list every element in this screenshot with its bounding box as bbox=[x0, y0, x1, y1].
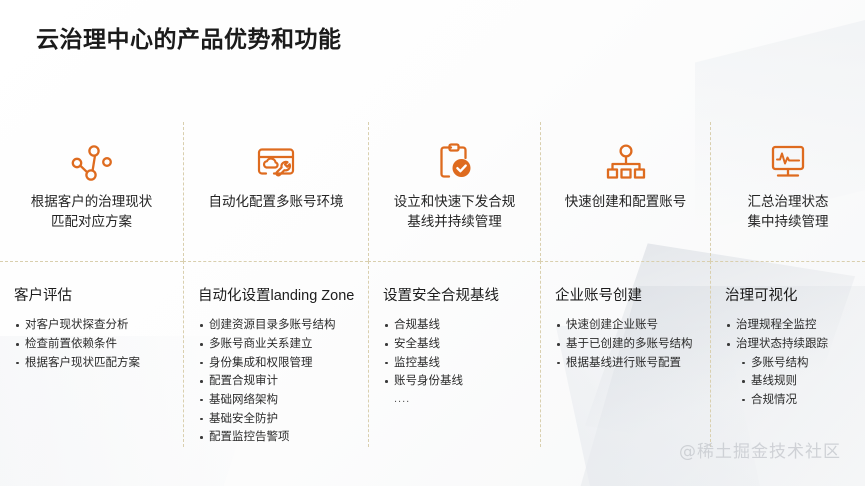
list-item: 安全基线 bbox=[383, 335, 534, 354]
watermark: @稀土掘金技术社区 bbox=[679, 437, 841, 462]
list-item-sub: 基线规则 bbox=[725, 372, 859, 391]
feature-column-5-heading: 治理可视化 bbox=[725, 288, 859, 305]
monitor-pulse-icon bbox=[767, 136, 809, 188]
feature-column-3-caption: 设立和快速下发合规 基线并持续管理 bbox=[384, 192, 526, 231]
list-item: 基础安全防护 bbox=[198, 410, 362, 429]
list-item-ellipsis: .... bbox=[383, 391, 534, 409]
list-item: 根据客户现状匹配方案 bbox=[14, 354, 177, 373]
feature-column-5-body: 治理可视化 治理规程全监控 治理状态持续跟踪 多账号结构 基线规则 合规情况 bbox=[710, 261, 865, 447]
feature-grid: 根据客户的治理现状 匹配对应方案 自动化配置多账号环境 bbox=[0, 122, 865, 422]
list-item: 账号身份基线 bbox=[383, 372, 534, 391]
feature-column-4-caption: 快速创建和配置账号 bbox=[555, 192, 697, 212]
feature-column-5-caption: 汇总治理状态 集中持续管理 bbox=[738, 192, 839, 231]
feature-column-5-bullets: 治理规程全监控 治理状态持续跟踪 多账号结构 基线规则 合规情况 bbox=[725, 316, 859, 409]
feature-column-2-body: 自动化设置landing Zone 创建资源目录多账号结构 多账号商业关系建立 … bbox=[183, 261, 368, 447]
list-item: 根据基线进行账号配置 bbox=[555, 354, 704, 373]
list-item: 快速创建企业账号 bbox=[555, 316, 704, 335]
feature-column-4-bullets: 快速创建企业账号 基于已创建的多账号结构 根据基线进行账号配置 bbox=[555, 316, 704, 372]
feature-column-3-heading: 设置安全合规基线 bbox=[383, 288, 534, 305]
feature-column-1-body: 客户评估 对客户现状探查分析 检查前置依赖条件 根据客户现状匹配方案 bbox=[0, 261, 183, 447]
list-item-sub: 多账号结构 bbox=[725, 354, 859, 373]
list-item: 检查前置依赖条件 bbox=[14, 335, 177, 354]
list-item-sub: 合规情况 bbox=[725, 391, 859, 410]
list-item: 监控基线 bbox=[383, 354, 534, 373]
list-item: 对客户现状探查分析 bbox=[14, 316, 177, 335]
list-item: 配置合规审计 bbox=[198, 372, 362, 391]
feature-column-2-bullets: 创建资源目录多账号结构 多账号商业关系建立 身份集成和权限管理 配置合规审计 基… bbox=[198, 316, 362, 446]
list-item: 治理状态持续跟踪 bbox=[725, 335, 859, 354]
feature-column-2-caption: 自动化配置多账号环境 bbox=[199, 192, 354, 212]
list-item: 创建资源目录多账号结构 bbox=[198, 316, 362, 335]
list-item: 身份集成和权限管理 bbox=[198, 354, 362, 373]
feature-column-4-heading: 企业账号创建 bbox=[555, 288, 704, 305]
list-item: 合规基线 bbox=[383, 316, 534, 335]
slide-canvas: 云治理中心的产品优势和功能 根据客户的治理现状 匹配对应方案 bbox=[0, 0, 865, 486]
list-item: 基础网络架构 bbox=[198, 391, 362, 410]
list-item: 基于已创建的多账号结构 bbox=[555, 335, 704, 354]
feature-column-1-caption: 根据客户的治理现状 匹配对应方案 bbox=[21, 192, 163, 231]
feature-column-3-bullets: 合规基线 安全基线 监控基线 账号身份基线 .... bbox=[383, 316, 534, 408]
browser-cloud-wrench-icon bbox=[254, 136, 298, 188]
feature-column-1-heading: 客户评估 bbox=[14, 288, 177, 305]
list-item: 配置监控告警项 bbox=[198, 428, 362, 447]
feature-column-5-header: 汇总治理状态 集中持续管理 bbox=[710, 122, 865, 261]
feature-column-1-header: 根据客户的治理现状 匹配对应方案 bbox=[0, 122, 183, 261]
feature-column-3-header: 设立和快速下发合规 基线并持续管理 bbox=[368, 122, 540, 261]
feature-column-3-body: 设置安全合规基线 合规基线 安全基线 监控基线 账号身份基线 .... bbox=[368, 261, 540, 447]
feature-column-1-bullets: 对客户现状探查分析 检查前置依赖条件 根据客户现状匹配方案 bbox=[14, 316, 177, 372]
node-graph-icon bbox=[69, 136, 115, 188]
feature-column-2-header: 自动化配置多账号环境 bbox=[183, 122, 368, 261]
org-chart-icon bbox=[605, 136, 647, 188]
list-item: 治理规程全监控 bbox=[725, 316, 859, 335]
page-title: 云治理中心的产品优势和功能 bbox=[36, 20, 342, 54]
clipboard-check-icon bbox=[434, 136, 476, 188]
list-item: 多账号商业关系建立 bbox=[198, 335, 362, 354]
feature-column-4-body: 企业账号创建 快速创建企业账号 基于已创建的多账号结构 根据基线进行账号配置 bbox=[540, 261, 710, 447]
feature-column-4-header: 快速创建和配置账号 bbox=[540, 122, 710, 261]
feature-column-2-heading: 自动化设置landing Zone bbox=[198, 288, 362, 305]
